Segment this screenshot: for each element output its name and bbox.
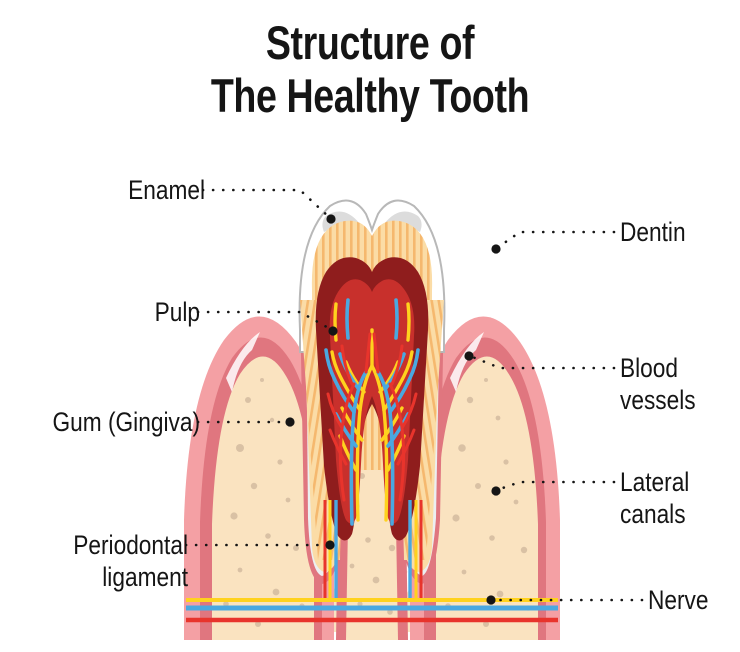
label-lateral-canals: Lateralcanals (620, 466, 719, 530)
label-periodontal-ligament: Periodontalligament (30, 529, 188, 593)
label-blood-vessels-line2: vessels (620, 385, 696, 415)
leader-dentin (497, 232, 614, 248)
leader-enamel (203, 190, 330, 218)
label-periodontal-ligament-line2: ligament (102, 562, 188, 592)
label-nerve: Nerve (648, 584, 725, 616)
label-blood-vessels: Bloodvessels (620, 352, 719, 416)
diagram-canvas: Structure of The Healthy Tooth (0, 0, 740, 652)
label-enamel: Enamel (41, 174, 205, 206)
label-dentin: Dentin (620, 216, 719, 248)
label-lateral-canals-line2: canals (620, 499, 686, 529)
label-blood-vessels-line1: Blood (620, 353, 678, 383)
label-lateral-canals-line1: Lateral (620, 467, 689, 497)
label-pulp: Pulp (40, 296, 200, 328)
label-gum: Gum (Gingiva) (34, 406, 200, 438)
label-periodontal-ligament-line1: Periodontal (73, 530, 188, 560)
